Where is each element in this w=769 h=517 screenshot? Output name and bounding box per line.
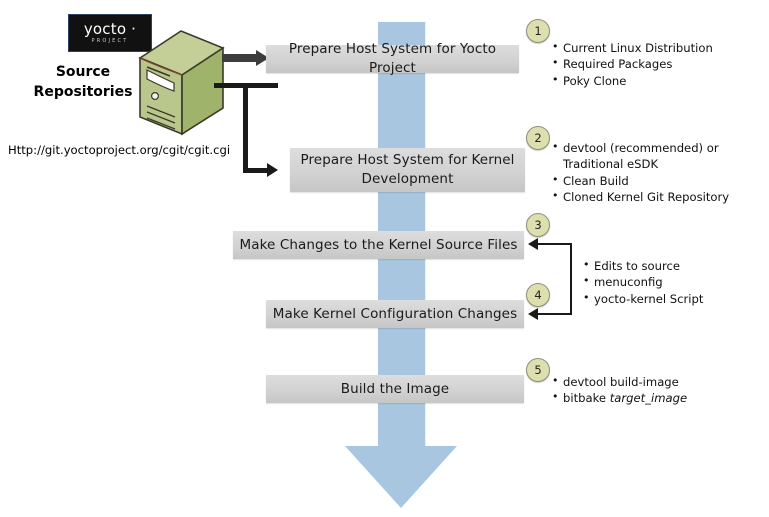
process-box-step-1[interactable]: Prepare Host System for Yocto Project bbox=[266, 45, 519, 73]
list-item: Poky Clone bbox=[552, 73, 757, 89]
connector-bracket-step3-arrowhead bbox=[528, 238, 538, 250]
list-item: Cloned Kernel Git Repository bbox=[552, 189, 760, 205]
list-item: bitbake target_image bbox=[552, 390, 752, 406]
list-item: devtool build-image bbox=[552, 374, 752, 390]
step-number-2: 2 bbox=[526, 126, 550, 150]
source-repositories-url: Http://git.yoctoproject.org/cgit/cgit.cg… bbox=[8, 143, 230, 157]
list-item: Current Linux Distribution bbox=[552, 40, 757, 56]
process-box-step-4[interactable]: Make Kernel Configuration Changes bbox=[266, 300, 524, 328]
step-number-4: 4 bbox=[526, 283, 550, 307]
workflow-diagram: yocto · PROJECT Source Repositories Http… bbox=[0, 0, 769, 517]
process-box-step-5[interactable]: Build the Image bbox=[266, 375, 524, 403]
connector-bracket-arm-step4 bbox=[538, 313, 572, 315]
connector-bracket-step4-arrowhead bbox=[528, 308, 538, 320]
connector-bracket-arm-step3 bbox=[538, 243, 572, 245]
list-item: devtool (recommended) or Traditional eSD… bbox=[552, 140, 760, 173]
yocto-logo-wordmark: yocto · bbox=[84, 22, 136, 37]
list-item: Required Packages bbox=[552, 56, 757, 72]
source-repositories-label: Source Repositories bbox=[18, 62, 148, 102]
step-1-bullets: Current Linux Distribution Required Pack… bbox=[552, 40, 757, 89]
step-number-5: 5 bbox=[526, 358, 550, 382]
steps-3-4-shared-bullets: Edits to source menuconfig yocto-kernel … bbox=[583, 258, 758, 307]
connector-bracket-vertical bbox=[570, 243, 572, 315]
step-number-3: 3 bbox=[526, 213, 550, 237]
yocto-logo-subtext: PROJECT bbox=[91, 38, 128, 45]
step-2-bullets: devtool (recommended) or Traditional eSD… bbox=[552, 140, 760, 206]
list-item: Clean Build bbox=[552, 173, 760, 189]
list-item: yocto-kernel Script bbox=[583, 291, 758, 307]
connector-server-to-step2-vertical bbox=[243, 83, 248, 173]
bullet-text-italic: target_image bbox=[610, 391, 687, 405]
flow-spine-arrowhead bbox=[345, 446, 457, 508]
process-box-step-2[interactable]: Prepare Host System for Kernel Developme… bbox=[290, 148, 525, 192]
process-box-step-3[interactable]: Make Changes to the Kernel Source Files bbox=[233, 231, 524, 259]
step-number-1: 1 bbox=[526, 19, 550, 43]
connector-server-to-step1 bbox=[222, 54, 258, 62]
bullet-text: bitbake bbox=[563, 391, 610, 405]
step-5-bullets: devtool build-image bitbake target_image bbox=[552, 374, 752, 407]
list-item: Edits to source bbox=[583, 258, 758, 274]
list-item: menuconfig bbox=[583, 274, 758, 290]
connector-server-to-step2-arrowhead bbox=[267, 163, 278, 177]
